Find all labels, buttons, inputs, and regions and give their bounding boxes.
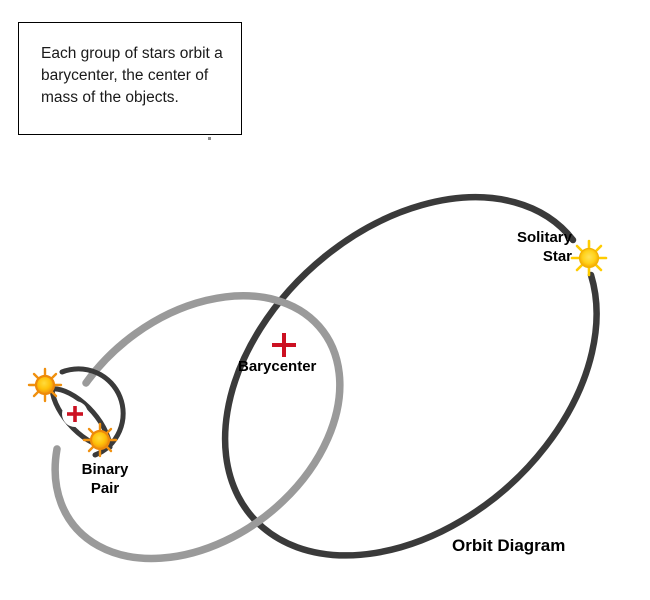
binary-barycenter-cross-icon xyxy=(62,401,88,427)
barycenter-cross-icon xyxy=(272,333,296,357)
stray-dot-artifact xyxy=(208,137,211,140)
binary-star-a-icon xyxy=(29,369,61,401)
binary-star-b-icon xyxy=(84,424,116,456)
diagram-title: Orbit Diagram xyxy=(452,536,565,556)
solitary-star-icon xyxy=(572,241,606,275)
binary-pair-label: Binary Pair xyxy=(70,460,140,498)
orbit-diagram-canvas: Each group of stars orbit a barycenter, … xyxy=(0,0,650,600)
solitary-star-label: Solitary Star xyxy=(486,228,572,266)
caption-text: Each group of stars orbit a barycenter, … xyxy=(41,43,223,109)
caption-box: Each group of stars orbit a barycenter, … xyxy=(18,22,242,135)
binary-pair-orbit xyxy=(55,296,340,559)
barycenter-label: Barycenter xyxy=(238,358,316,375)
